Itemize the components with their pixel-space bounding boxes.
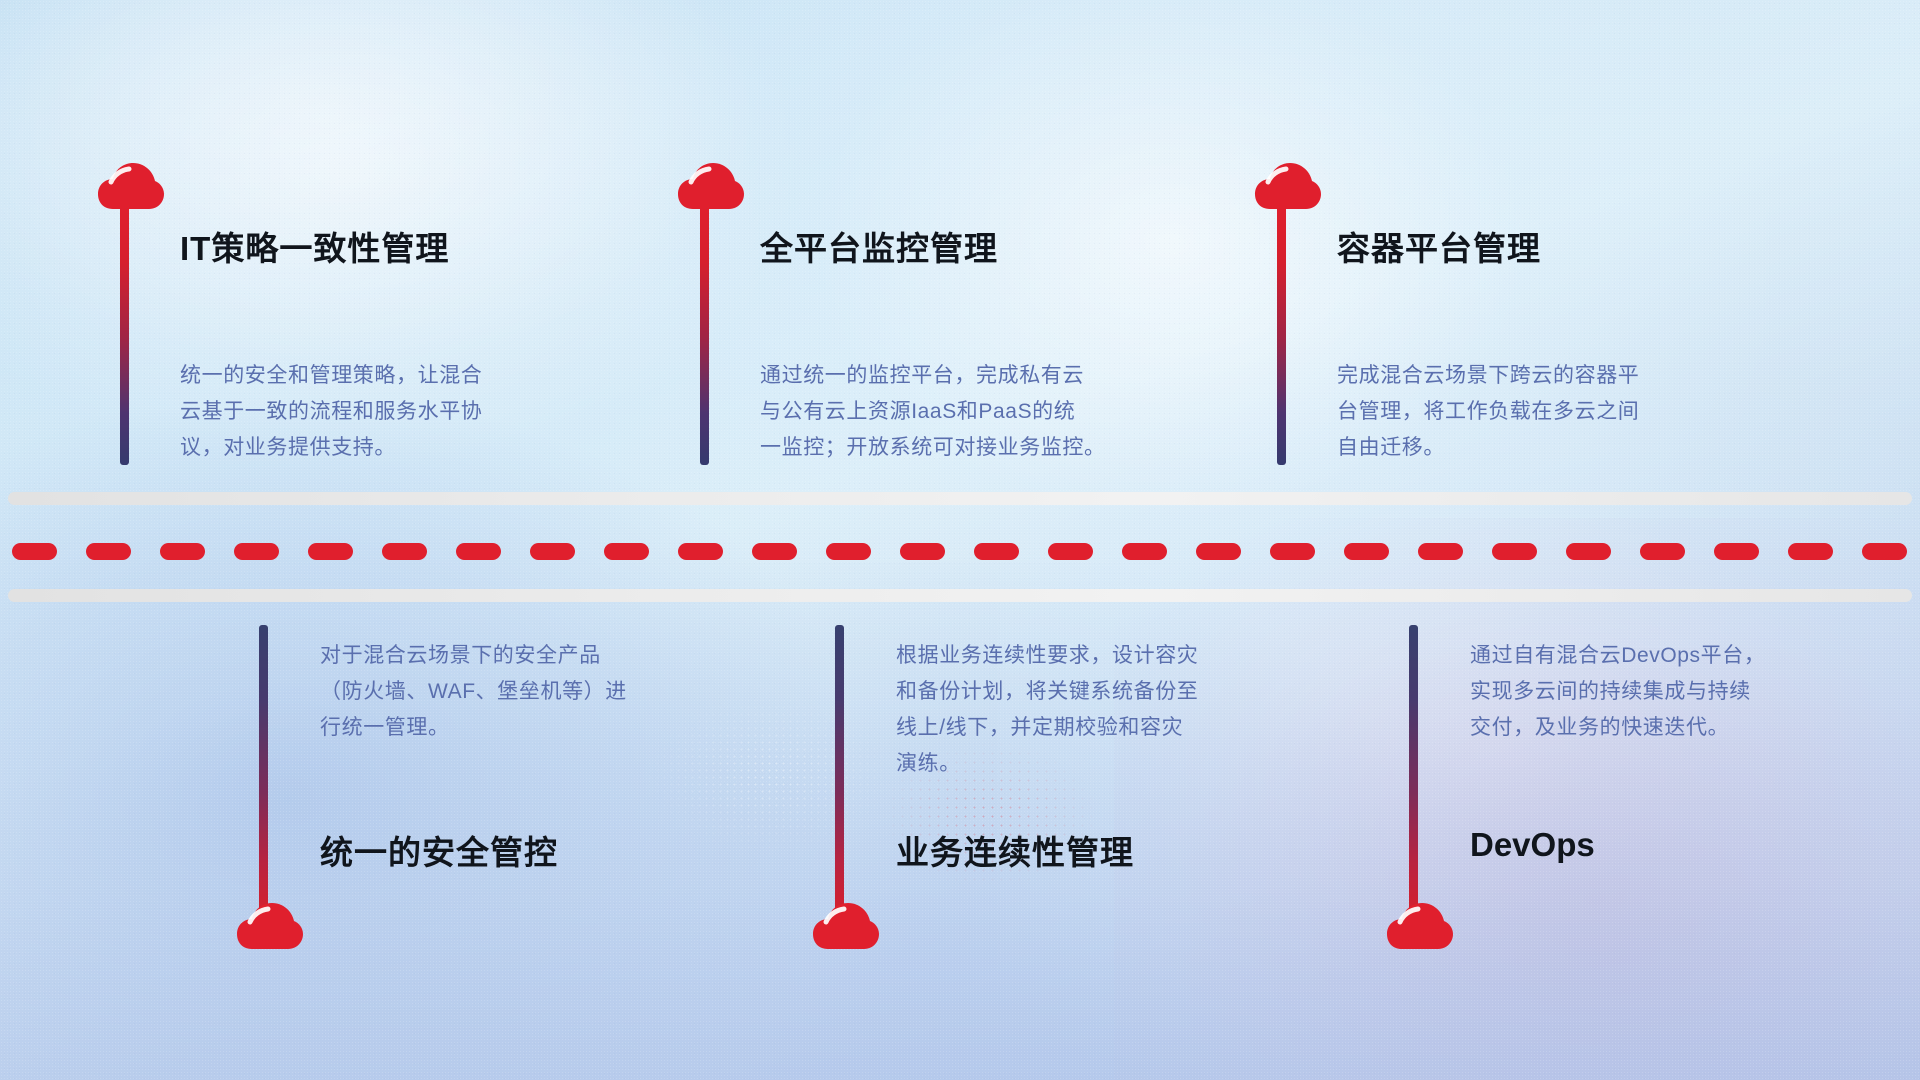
stem-connector <box>700 205 709 465</box>
road-dash <box>530 543 575 560</box>
feature-title: IT策略一致性管理 <box>180 222 449 270</box>
road-dash <box>382 543 427 560</box>
feature-body: 统一的安全和管理策略，让混合 云基于一致的流程和服务水平协 议，对业务提供支持。 <box>180 358 610 466</box>
feature-body: 对于混合云场景下的安全产品 （防火墙、WAF、堡垒机等）进 行统一管理。 <box>320 638 740 746</box>
feature-body: 根据业务连续性要求，设计容灾 和备份计划，将关键系统备份至 线上/线下，并定期校… <box>896 638 1316 782</box>
road-dash <box>86 543 131 560</box>
feature-body: 完成混合云场景下跨云的容器平 台管理，将工作负载在多云之间 自由迁移。 <box>1337 358 1767 466</box>
road-dash <box>678 543 723 560</box>
road-dash <box>752 543 797 560</box>
cloud-icon <box>237 903 303 953</box>
road-dash <box>974 543 1019 560</box>
road-dash <box>1862 543 1907 560</box>
cloud-icon <box>813 903 879 953</box>
road-dash <box>1418 543 1463 560</box>
cloud-icon <box>678 163 744 213</box>
road-dash <box>456 543 501 560</box>
feature-title: DevOps <box>1470 826 1595 864</box>
road-dash <box>604 543 649 560</box>
road-dash <box>1714 543 1759 560</box>
road-dash <box>1048 543 1093 560</box>
road-dash <box>234 543 279 560</box>
road-dash <box>12 543 57 560</box>
feature-body: 通过自有混合云DevOps平台， 实现多云间的持续集成与持续 交付，及业务的快速… <box>1470 638 1890 746</box>
road-dash <box>1122 543 1167 560</box>
road-line-lower <box>8 589 1912 602</box>
stem-connector <box>1409 625 1418 915</box>
cloud-icon <box>1255 163 1321 213</box>
road-dash <box>900 543 945 560</box>
road-dash <box>308 543 353 560</box>
road-dash <box>826 543 871 560</box>
feature-title: 容器平台管理 <box>1337 222 1541 270</box>
feature-body: 通过统一的监控平台，完成私有云 与公有云上资源IaaS和PaaS的统 一监控；开… <box>760 358 1210 466</box>
road-dash <box>1270 543 1315 560</box>
road-dash <box>160 543 205 560</box>
road-dash <box>1788 543 1833 560</box>
feature-title: 统一的安全管控 <box>320 826 558 874</box>
road-dash <box>1492 543 1537 560</box>
road-dash <box>1640 543 1685 560</box>
road-dash <box>1196 543 1241 560</box>
feature-title: 业务连续性管理 <box>896 826 1134 874</box>
cloud-icon <box>98 163 164 213</box>
stem-connector <box>259 625 268 915</box>
infographic-canvas: IT策略一致性管理 统一的安全和管理策略，让混合 云基于一致的流程和服务水平协 … <box>0 0 1920 1080</box>
stem-connector <box>120 205 129 465</box>
cloud-icon <box>1387 903 1453 953</box>
stem-connector <box>835 625 844 915</box>
road-line-upper <box>8 492 1912 505</box>
road-dashed-centerline <box>0 543 1920 560</box>
road-dash <box>1344 543 1389 560</box>
feature-title: 全平台监控管理 <box>760 222 998 270</box>
road-dash <box>1566 543 1611 560</box>
stem-connector <box>1277 205 1286 465</box>
